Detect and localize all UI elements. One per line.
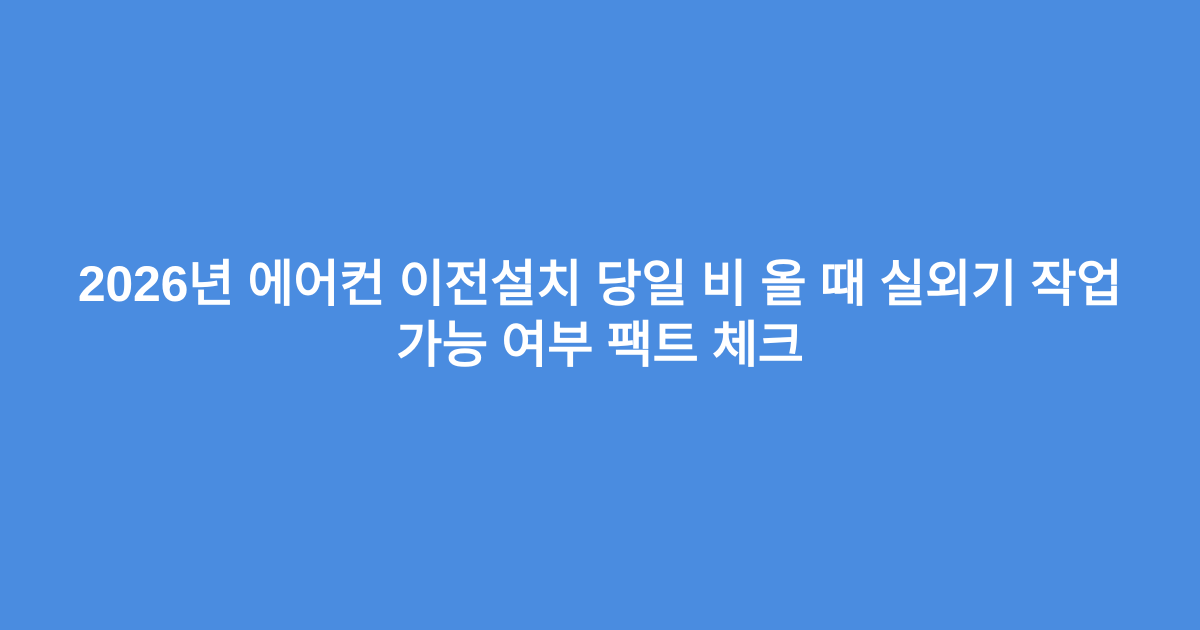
- page-title: 2026년 에어컨 이전설치 당일 비 올 때 실외기 작업 가능 여부 팩트 …: [48, 254, 1152, 376]
- social-share-card: 2026년 에어컨 이전설치 당일 비 올 때 실외기 작업 가능 여부 팩트 …: [0, 0, 1200, 630]
